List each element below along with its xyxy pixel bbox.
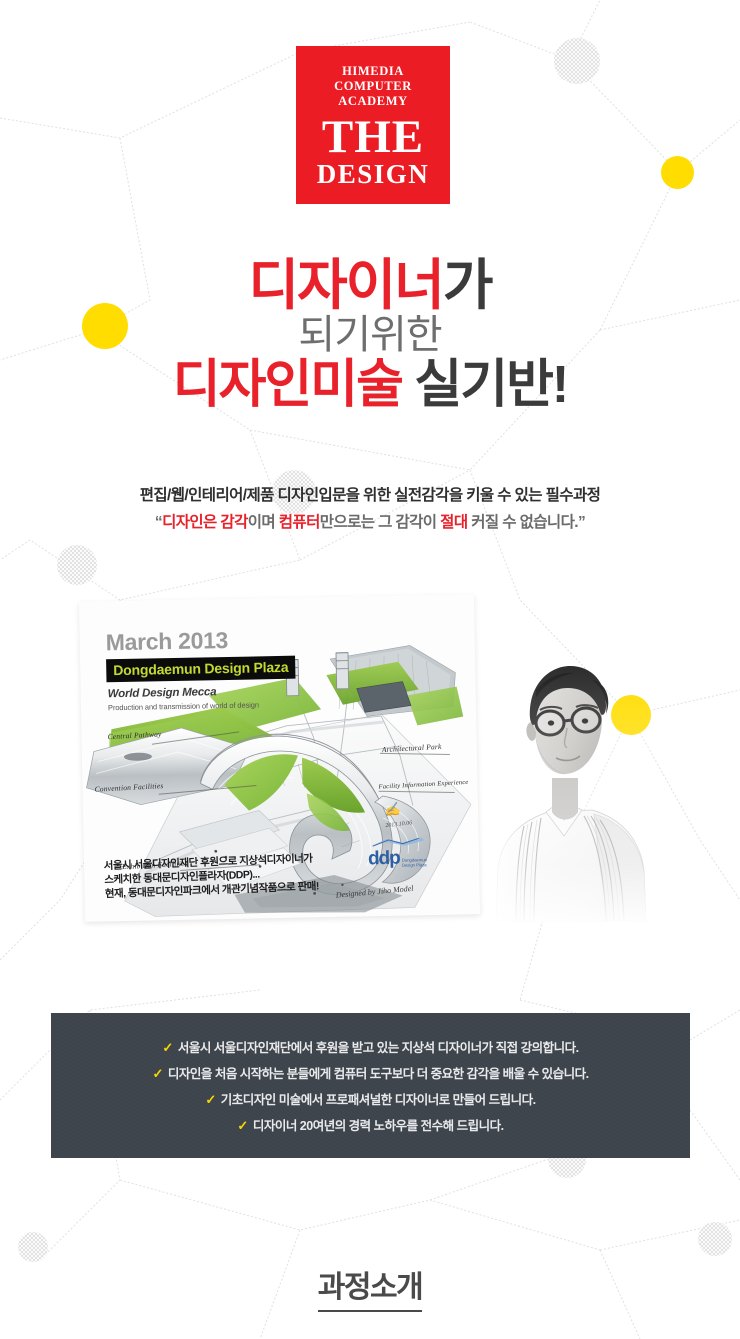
ddp-logo: ddp Dongdaemun Design Plaza bbox=[368, 834, 428, 868]
sketch-project-name: Dongdaemun Design Plaza bbox=[106, 656, 296, 683]
ddp-sub-line-2: Design Plaza bbox=[402, 862, 427, 867]
logo-word-design: DESIGN bbox=[296, 160, 450, 189]
subtitle-block: 편집/웹/인테리어/제품 디자인입문을 위한 실전감각을 키울 수 있는 필수과… bbox=[0, 485, 740, 534]
page-root: HIMEDIA COMPUTER ACADEMY THE DESIGN 디자이너… bbox=[0, 0, 740, 1339]
logo-line-computer: COMPUTER bbox=[296, 79, 450, 94]
ddp-sketch-card: March 2013 Dongdaemun Design Plaza World… bbox=[79, 594, 480, 922]
headline-line-3-emphasis: 디자인미술 bbox=[173, 356, 402, 414]
logo-line-academy: ACADEMY bbox=[296, 94, 450, 109]
logo-word-the: THE bbox=[296, 115, 450, 160]
section-heading-text: 과정소개 bbox=[318, 1262, 422, 1312]
illustration-block: March 2013 Dongdaemun Design Plaza World… bbox=[0, 586, 740, 986]
designer-signature: ✍ bbox=[383, 801, 401, 819]
subtitle-open-quote: “ bbox=[155, 514, 162, 531]
check-icon: ✓ bbox=[237, 1118, 247, 1133]
subtitle-emphasis-1: 디자인은 감각 bbox=[162, 514, 248, 531]
logo-line-himedia: HIMEDIA bbox=[296, 64, 450, 79]
decor-dot-gray bbox=[698, 1222, 732, 1256]
subtitle-line-1: 편집/웹/인테리어/제품 디자인입문을 위한 실전감각을 키울 수 있는 필수과… bbox=[0, 485, 740, 507]
feature-item-label: 기초디자인 미술에서 프로패셔널한 디자이너로 만들어 드립니다. bbox=[221, 1093, 536, 1107]
main-headline: 디자이너가 되기위한 디자인미술 실기반! bbox=[0, 258, 740, 411]
headline-line-1-suffix: 가 bbox=[443, 254, 492, 316]
subtitle-emphasis-2: 컴퓨터 bbox=[279, 514, 320, 531]
feature-item: ✓디자이너 20여년의 경력 노하우를 전수해 드립니다. bbox=[51, 1113, 690, 1139]
subtitle-emphasis-3: 절대 bbox=[440, 514, 467, 531]
ddp-wordmark: ddp bbox=[368, 849, 400, 869]
feature-item: ✓서울시 서울디자인재단에서 후원을 받고 있는 지상석 디자이너가 직접 강의… bbox=[51, 1035, 690, 1061]
brand-logo: HIMEDIA COMPUTER ACADEMY THE DESIGN bbox=[296, 46, 450, 204]
ddp-mark-icon bbox=[368, 834, 426, 848]
sketch-tagline: World Design Mecca bbox=[108, 686, 217, 700]
subtitle-text-1: 이며 bbox=[248, 514, 279, 531]
check-icon: ✓ bbox=[152, 1066, 162, 1081]
decor-dot-gray bbox=[554, 38, 600, 84]
instructor-photo bbox=[488, 660, 653, 922]
features-panel: ✓서울시 서울디자인재단에서 후원을 받고 있는 지상석 디자이너가 직접 강의… bbox=[51, 1013, 690, 1158]
decor-dot-gray bbox=[18, 1232, 48, 1262]
headline-line-1: 디자이너가 bbox=[0, 258, 740, 313]
feature-item: ✓기초디자인 미술에서 프로패셔널한 디자이너로 만들어 드립니다. bbox=[51, 1087, 690, 1113]
feature-item-label: 디자이너 20여년의 경력 노하우를 전수해 드립니다. bbox=[253, 1119, 504, 1133]
headline-line-3: 디자인미술 실기반! bbox=[0, 359, 740, 411]
subtitle-close-quote: ” bbox=[578, 514, 585, 531]
sketch-caption: 서울시 서울디자인재단 후원으로 지상석디자이너가 스케치한 동대문디자인플라자… bbox=[104, 851, 320, 901]
headline-line-2: 되기위한 bbox=[0, 315, 740, 355]
section-heading: 과정소개 bbox=[0, 1262, 740, 1312]
feature-item-label: 서울시 서울디자인재단에서 후원을 받고 있는 지상석 디자이너가 직접 강의합… bbox=[178, 1041, 579, 1055]
decor-dot-gray bbox=[57, 545, 97, 585]
subtitle-text-3: 커질 수 없습니다. bbox=[467, 514, 577, 531]
decor-dot-yellow bbox=[661, 156, 694, 189]
check-icon: ✓ bbox=[162, 1040, 172, 1055]
subtitle-text-2: 만으로는 그 감각이 bbox=[320, 514, 440, 531]
check-icon: ✓ bbox=[205, 1092, 215, 1107]
feature-item-label: 디자인을 처음 시작하는 분들에게 컴퓨터 도구보다 더 중요한 감각을 배울 … bbox=[168, 1067, 589, 1081]
headline-line-3-suffix: 실기반! bbox=[402, 356, 567, 414]
sketch-month-year: March 2013 bbox=[105, 627, 228, 656]
subtitle-line-2: “디자인은 감각이며 컴퓨터만으로는 그 감각이 절대 커질 수 없습니다.” bbox=[0, 512, 740, 534]
headline-line-1-emphasis: 디자이너 bbox=[248, 254, 442, 316]
feature-item: ✓디자인을 처음 시작하는 분들에게 컴퓨터 도구보다 더 중요한 감각을 배울… bbox=[51, 1061, 690, 1087]
